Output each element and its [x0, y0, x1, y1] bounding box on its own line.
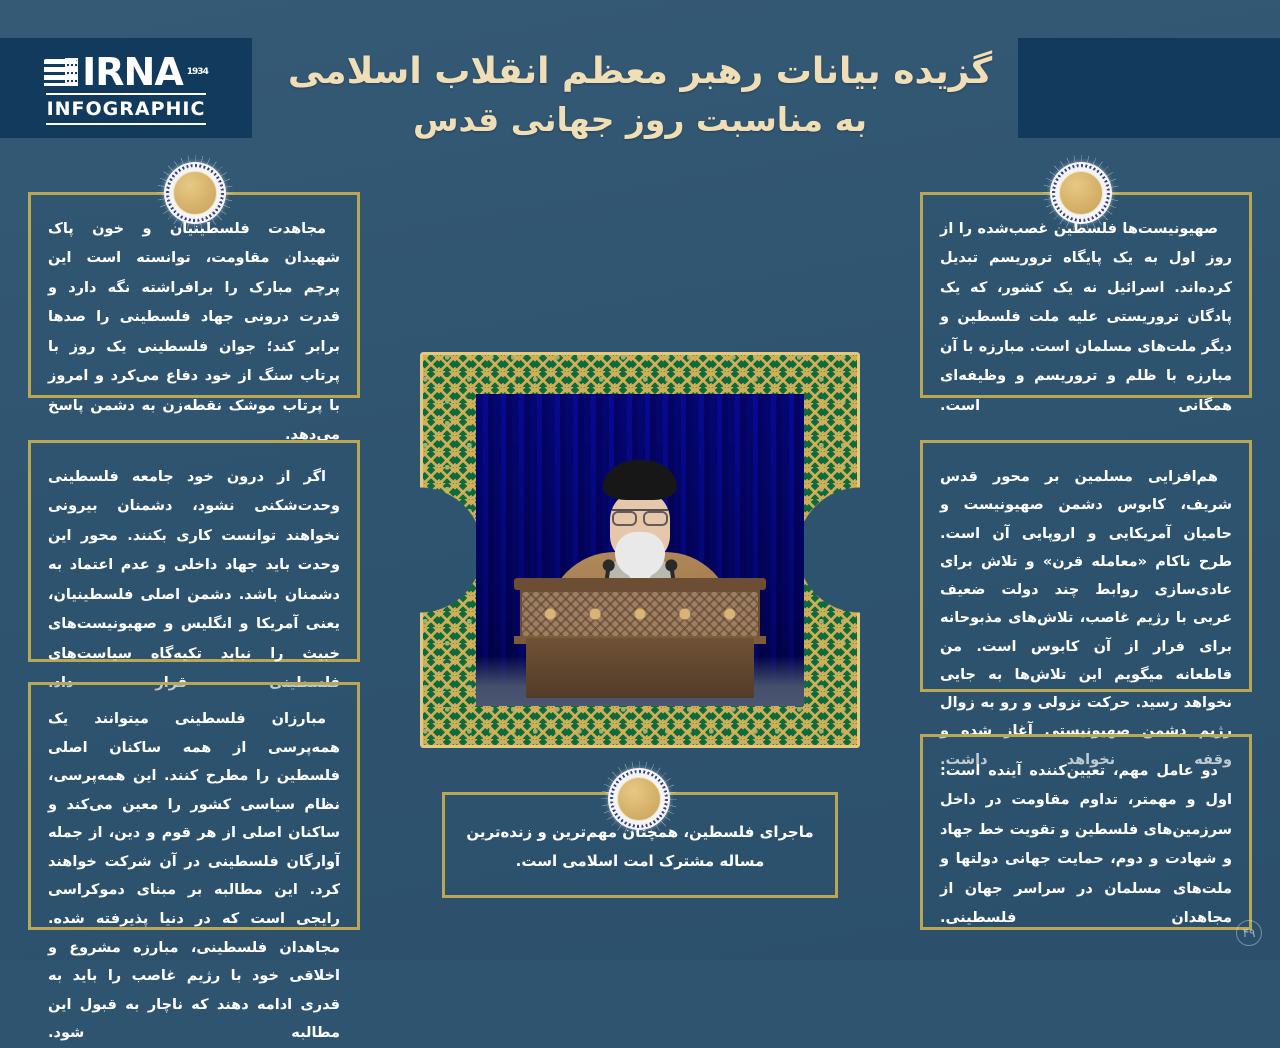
quote-text: ماجرای فلسطین، همچنان مهم‌ترین و زنده‌تر…	[462, 818, 818, 877]
glasses-icon	[612, 509, 668, 521]
brand-subtitle: INFOGRAPHIC	[44, 98, 208, 120]
brand-name: IRNA	[82, 53, 183, 91]
leader-photo-frame	[420, 352, 860, 748]
quote-text: هم‌افزایی مسلمین بر محور قدس شریف، کابوس…	[940, 463, 1232, 774]
leader-photo	[476, 394, 804, 706]
infographic-page: IRNA1934 INFOGRAPHIC گزیده بیانات رهبر م…	[0, 0, 1280, 960]
quote-box-right-3: دو عامل مهم، تعیین‌کننده آینده است: اول …	[920, 734, 1252, 930]
page-number-badge: ۴۹	[1236, 920, 1262, 946]
quote-box-left-2: اگر از درون خود جامعه فلسطینی وحدت‌شکنی …	[28, 440, 360, 662]
header-band-right	[1018, 38, 1280, 138]
quote-text: مجاهدت فلسطینیان و خون پاک شهیدان مقاومت…	[48, 215, 340, 450]
quote-box-right-2: هم‌افزایی مسلمین بر محور قدس شریف، کابوس…	[920, 440, 1252, 692]
quote-box-right-1: صهیونیست‌ها فلسطین غصب‌شده را از روز اول…	[920, 192, 1252, 398]
quote-text: مبارزان فلسطینی میتوانند یک همه‌پرسی از …	[48, 705, 340, 1048]
quote-box-left-1: مجاهدت فلسطینیان و خون پاک شهیدان مقاومت…	[28, 192, 360, 398]
quote-box-left-3: مبارزان فلسطینی میتوانند یک همه‌پرسی از …	[28, 682, 360, 930]
page-title-line-1: گزیده بیانات رهبر معظم انقلاب اسلامی	[268, 46, 1012, 97]
page-title-line-2: به مناسبت روز جهانی قدس	[268, 97, 1012, 144]
quote-box-bottom: ماجرای فلسطین، همچنان مهم‌ترین و زنده‌تر…	[442, 792, 838, 898]
quote-text: صهیونیست‌ها فلسطین غصب‌شده را از روز اول…	[940, 215, 1232, 421]
quote-text: دو عامل مهم، تعیین‌کننده آینده است: اول …	[940, 757, 1232, 934]
irna-logo-band: IRNA1934 INFOGRAPHIC	[0, 38, 252, 138]
brand-superscript: 1934	[187, 68, 208, 77]
page-title: گزیده بیانات رهبر معظم انقلاب اسلامی به …	[268, 46, 1012, 144]
logo-divider-bottom	[46, 123, 206, 125]
podium	[514, 578, 766, 698]
quote-text: اگر از درون خود جامعه فلسطینی وحدت‌شکنی …	[48, 463, 340, 698]
irna-logo-icon	[44, 57, 78, 87]
